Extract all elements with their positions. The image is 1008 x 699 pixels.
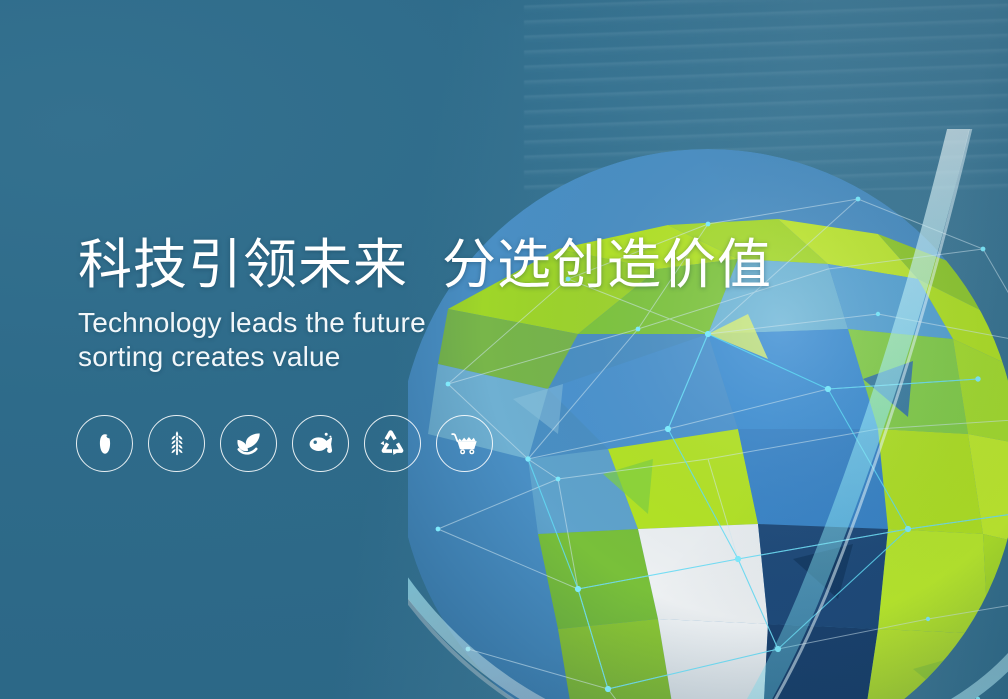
industry-icon-row: [76, 415, 493, 472]
wheat-icon: [162, 429, 192, 459]
icon-badge-recycle[interactable]: [364, 415, 421, 472]
rice-grain-icon: [91, 430, 119, 458]
hero-copy: 科技引领未来分选创造价值 Technology leads the future…: [78, 236, 772, 375]
icon-badge-leaf[interactable]: [220, 415, 277, 472]
headline-part-2: 分选创造价值: [442, 233, 772, 296]
icon-badge-wheat[interactable]: [148, 415, 205, 472]
leaf-icon: [234, 431, 264, 457]
subtitle-line-2: sorting creates value: [78, 340, 772, 374]
headline-part-1: 科技引领未来: [78, 233, 408, 296]
subtitle: Technology leads the future sorting crea…: [78, 306, 772, 374]
icon-badge-rice-grain[interactable]: [76, 415, 133, 472]
icon-badge-mine-cart[interactable]: [436, 415, 493, 472]
page-title: 科技引领未来分选创造价值: [78, 236, 772, 294]
fish-icon: [306, 431, 336, 457]
recycle-icon: [378, 429, 407, 458]
hero-banner: 科技引领未来分选创造价值 Technology leads the future…: [0, 0, 1008, 699]
icon-badge-fish[interactable]: [292, 415, 349, 472]
mine-cart-icon: [450, 431, 480, 457]
subtitle-line-1: Technology leads the future: [78, 306, 772, 340]
